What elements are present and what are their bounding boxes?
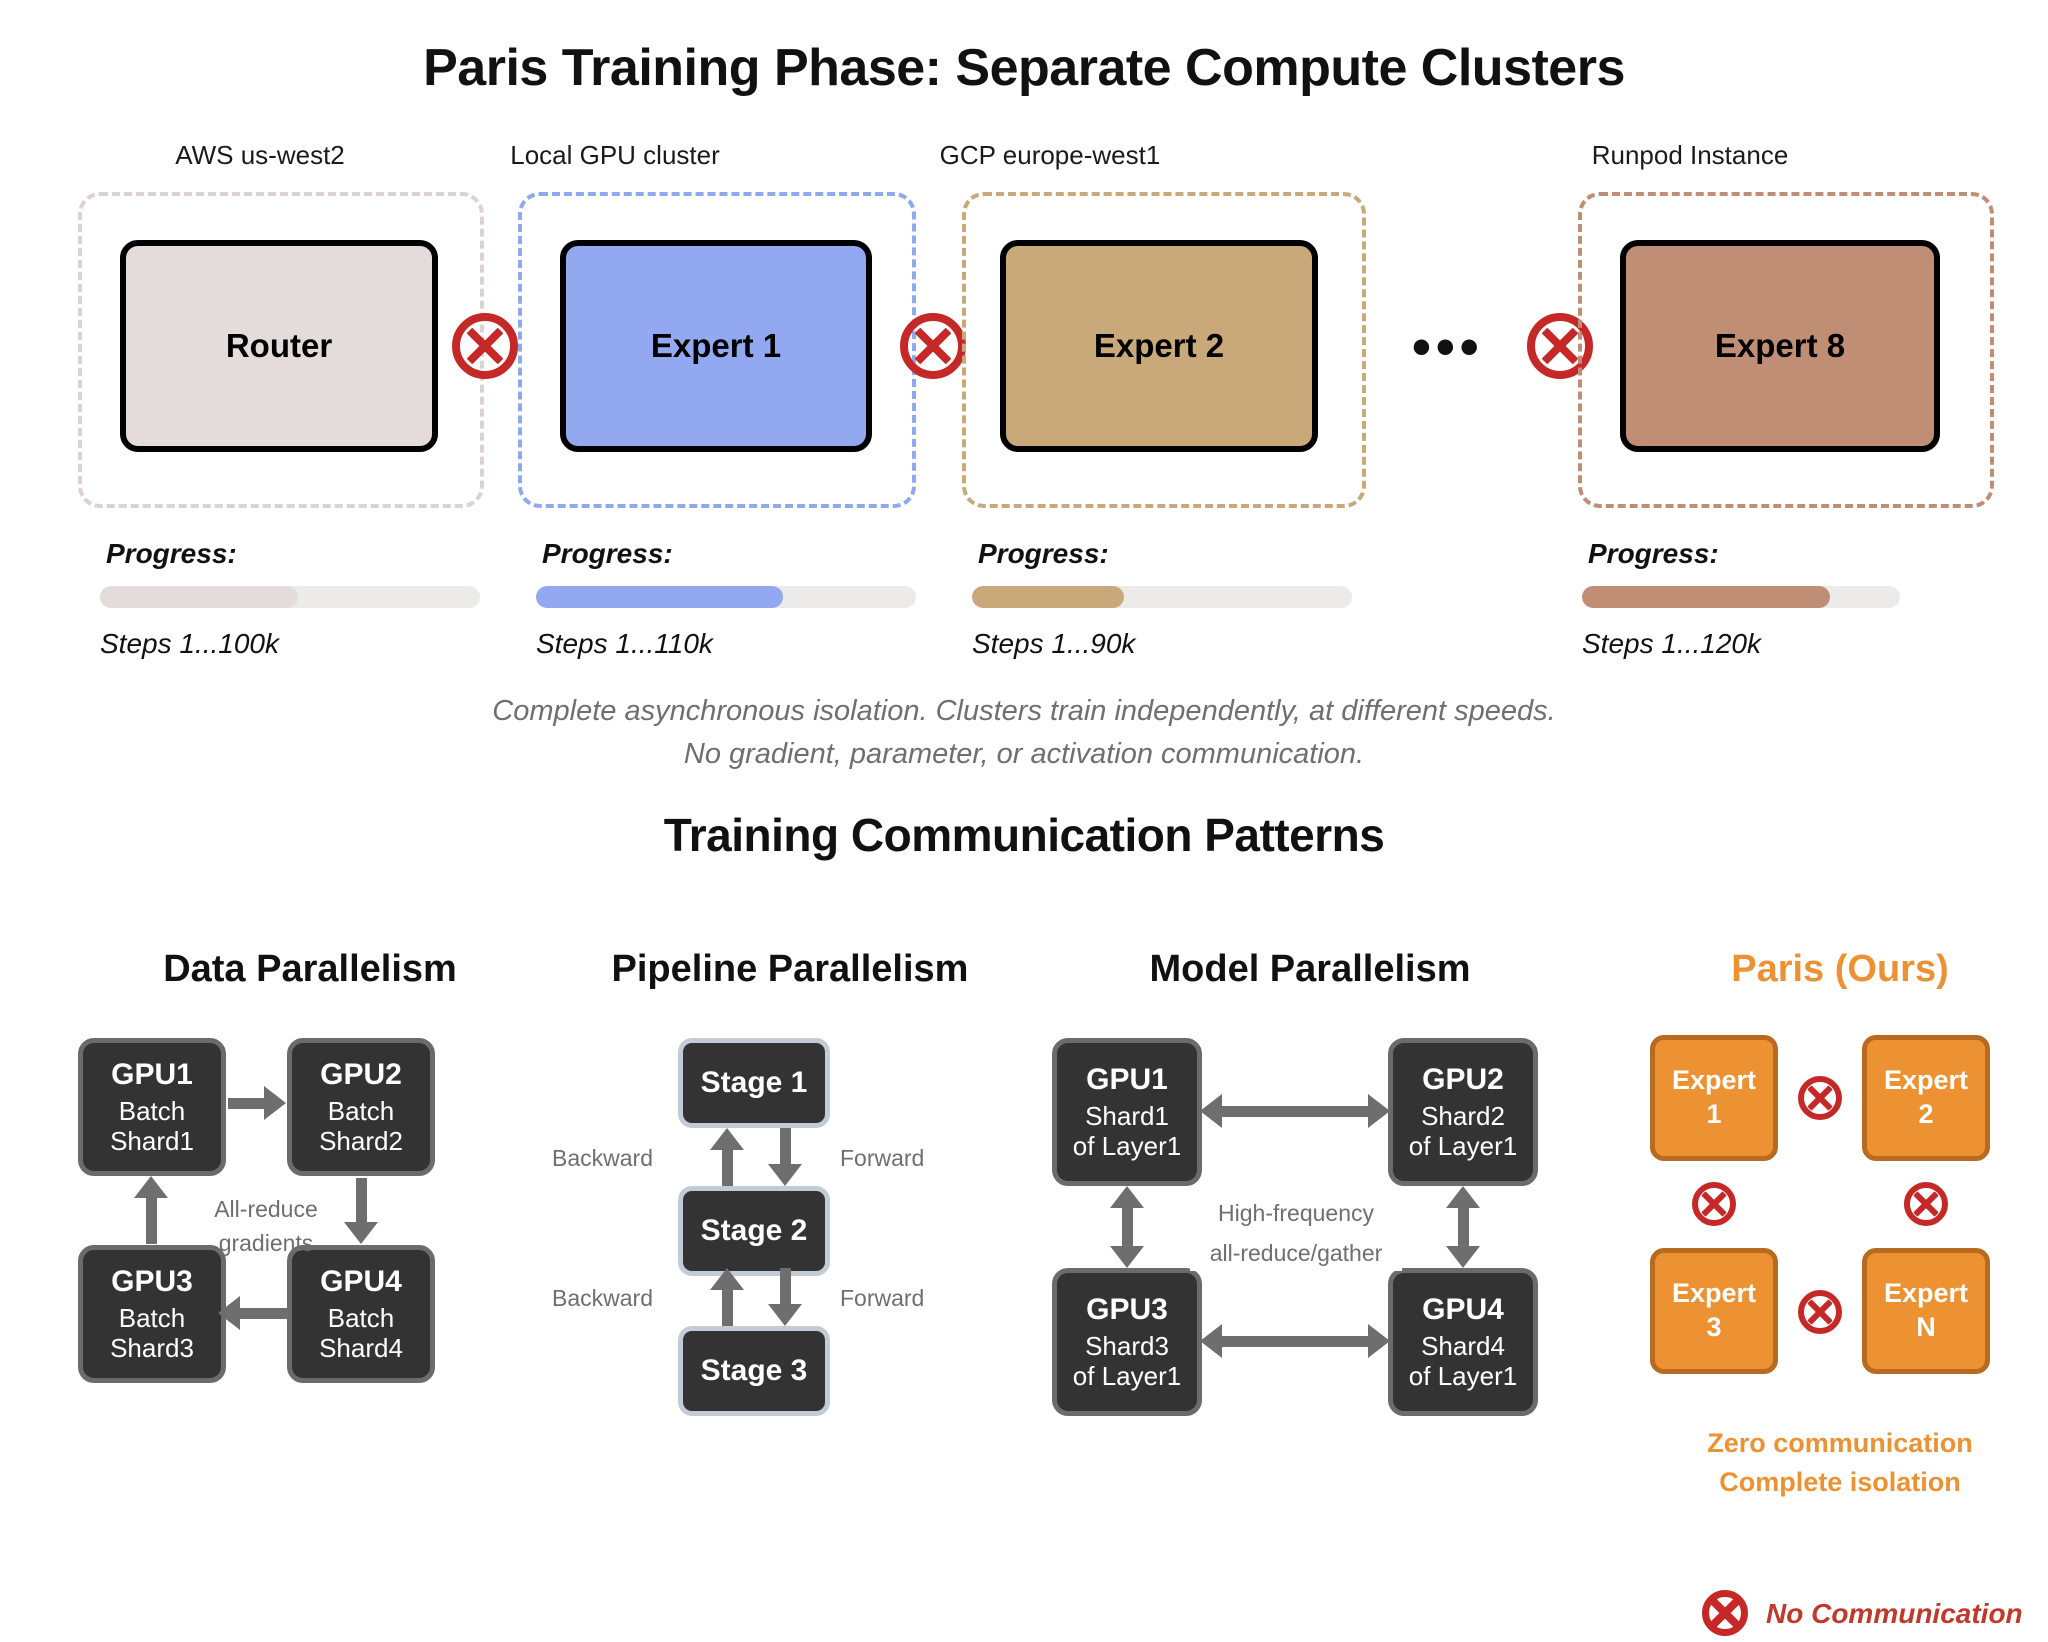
paris-expert-n-word: Expert <box>1884 1277 1968 1311</box>
steps-label-local: Steps 1...110k <box>536 628 713 660</box>
paris-note-line-1: Zero communication <box>1600 1424 2048 1463</box>
panel-title-pipeline-parallelism: Pipeline Parallelism <box>500 948 1080 991</box>
panel-title-data-parallelism: Data Parallelism <box>40 948 580 991</box>
mp-annotation-line-1: High-frequency <box>1190 1196 1402 1231</box>
paris-expert-2-num: 2 <box>1918 1098 1933 1132</box>
pp-stage-3-label: Stage 3 <box>701 1354 808 1388</box>
progress-bar-gcp <box>972 586 1352 608</box>
pp-label-forward-1: Forward <box>840 1145 924 1172</box>
steps-label-gcp: Steps 1...90k <box>972 628 1135 660</box>
paris-expert-n[interactable]: Expert N <box>1862 1248 1990 1374</box>
dp-node-gpu3[interactable]: GPU3 Batch Shard3 <box>78 1245 226 1383</box>
mp-node-gpu2[interactable]: GPU2 Shard2 of Layer1 <box>1388 1038 1538 1186</box>
mp-node-gpu2-title: GPU2 <box>1422 1063 1504 1096</box>
dp-node-gpu1-sub1: Batch <box>119 1097 186 1126</box>
dp-node-gpu2[interactable]: GPU2 Batch Shard2 <box>287 1038 435 1176</box>
page-title: Paris Training Phase: Separate Compute C… <box>0 38 2048 98</box>
dp-node-gpu3-sub1: Batch <box>119 1304 186 1333</box>
paris-expert-3-num: 3 <box>1706 1311 1721 1345</box>
dp-arrow-gpu4-gpu3-head <box>218 1296 240 1330</box>
pp-stage-1[interactable]: Stage 1 <box>678 1038 830 1128</box>
dp-node-gpu4-sub1: Batch <box>328 1304 395 1333</box>
pp-label-backward-1: Backward <box>552 1145 653 1172</box>
dp-node-gpu4-title: GPU4 <box>320 1265 402 1298</box>
mp-arrow-right-line <box>1458 1206 1469 1248</box>
mp-node-gpu3-sub2: of Layer1 <box>1073 1362 1181 1391</box>
cluster-label-runpod: Runpod Instance <box>1420 140 1960 171</box>
dp-node-gpu3-title: GPU3 <box>111 1265 193 1298</box>
dp-node-gpu1-sub2: Shard1 <box>110 1127 194 1156</box>
dp-arrow-gpu4-gpu3-line <box>240 1308 288 1319</box>
paris-no-communication-icon-right <box>1904 1182 1948 1226</box>
mp-arrow-top-line <box>1222 1106 1368 1117</box>
progress-label-gcp: Progress: <box>978 538 1109 570</box>
mp-arrow-top-head-left <box>1200 1094 1222 1128</box>
dp-node-gpu4-sub2: Shard4 <box>319 1334 403 1363</box>
dp-arrow-gpu3-gpu1-head <box>134 1176 168 1198</box>
mp-node-gpu4-sub1: Shard4 <box>1421 1332 1505 1361</box>
paris-expert-3[interactable]: Expert 3 <box>1650 1248 1778 1374</box>
mp-node-gpu3[interactable]: GPU3 Shard3 of Layer1 <box>1052 1268 1202 1416</box>
progress-label-aws: Progress: <box>106 538 237 570</box>
cluster-label-gcp: GCP europe-west1 <box>840 140 1260 171</box>
progress-label-runpod: Progress: <box>1588 538 1719 570</box>
dp-annotation-line-1: All-reduce <box>198 1192 334 1227</box>
mp-node-gpu1-sub2: of Layer1 <box>1073 1132 1181 1161</box>
isolation-caption-line-1: Complete asynchronous isolation. Cluster… <box>0 690 2048 732</box>
progress-bar-aws <box>100 586 480 608</box>
mp-arrow-bottom-line <box>1222 1336 1368 1347</box>
pp-arrow-backward-1-line <box>722 1148 733 1186</box>
paris-expert-1[interactable]: Expert 1 <box>1650 1035 1778 1161</box>
pp-stage-2[interactable]: Stage 2 <box>678 1186 830 1276</box>
paris-expert-n-num: N <box>1916 1311 1936 1345</box>
pp-arrow-forward-2-line <box>780 1268 791 1306</box>
steps-label-aws: Steps 1...100k <box>100 628 279 660</box>
pp-stage-3[interactable]: Stage 3 <box>678 1326 830 1416</box>
panel-title-paris: Paris (Ours) <box>1640 948 2040 991</box>
mp-node-gpu2-sub2: of Layer1 <box>1409 1132 1517 1161</box>
cluster-label-local: Local GPU cluster <box>400 140 830 171</box>
mp-node-gpu4-sub2: of Layer1 <box>1409 1362 1517 1391</box>
dp-arrow-gpu2-gpu4-head <box>344 1222 378 1244</box>
mp-arrow-left-head-up <box>1110 1186 1144 1208</box>
mp-node-gpu2-sub1: Shard2 <box>1421 1102 1505 1131</box>
no-communication-icon-1 <box>452 313 518 379</box>
node-router[interactable]: Router <box>120 240 438 452</box>
node-expert-2-label: Expert 2 <box>1094 327 1224 365</box>
progress-bar-runpod <box>1582 586 1900 608</box>
mp-arrow-left-line <box>1122 1206 1133 1248</box>
pp-stage-1-label: Stage 1 <box>701 1066 808 1100</box>
pp-stage-2-label: Stage 2 <box>701 1214 808 1248</box>
pp-label-forward-2: Forward <box>840 1285 924 1312</box>
mp-node-gpu4[interactable]: GPU4 Shard4 of Layer1 <box>1388 1268 1538 1416</box>
paris-expert-2[interactable]: Expert 2 <box>1862 1035 1990 1161</box>
paris-expert-1-word: Expert <box>1672 1064 1756 1098</box>
dp-arrow-gpu1-gpu2-line <box>228 1098 266 1109</box>
paris-expert-1-num: 1 <box>1706 1098 1721 1132</box>
paris-no-communication-icon-left <box>1692 1182 1736 1226</box>
panel-title-model-parallelism: Model Parallelism <box>1000 948 1620 991</box>
mp-arrow-bottom-head-right <box>1368 1324 1390 1358</box>
pp-label-backward-2: Backward <box>552 1285 653 1312</box>
mp-arrow-top-head-right <box>1368 1094 1390 1128</box>
mp-annotation-line-2: all-reduce/gather <box>1190 1236 1402 1271</box>
dp-arrow-gpu3-gpu1-line <box>146 1196 157 1244</box>
mp-node-gpu3-sub1: Shard3 <box>1085 1332 1169 1361</box>
progress-fill-aws <box>100 586 298 608</box>
progress-bar-local <box>536 586 916 608</box>
pp-arrow-forward-2-head <box>768 1304 802 1326</box>
dp-node-gpu2-sub1: Batch <box>328 1097 395 1126</box>
pp-arrow-forward-1-head <box>768 1164 802 1186</box>
dp-node-gpu3-sub2: Shard3 <box>110 1334 194 1363</box>
node-expert-1[interactable]: Expert 1 <box>560 240 872 452</box>
experts-ellipsis: ••• <box>1412 320 1484 374</box>
node-expert-8-label: Expert 8 <box>1715 327 1845 365</box>
mp-arrow-bottom-head-left <box>1200 1324 1222 1358</box>
node-expert-2[interactable]: Expert 2 <box>1000 240 1318 452</box>
paris-expert-2-word: Expert <box>1884 1064 1968 1098</box>
dp-arrow-gpu2-gpu4-line <box>356 1178 367 1226</box>
dp-node-gpu1[interactable]: GPU1 Batch Shard1 <box>78 1038 226 1176</box>
paris-note-line-2: Complete isolation <box>1600 1463 2048 1502</box>
steps-label-runpod: Steps 1...120k <box>1582 628 1761 660</box>
dp-node-gpu2-title: GPU2 <box>320 1058 402 1091</box>
mp-arrow-right-head-down <box>1446 1246 1480 1268</box>
dp-node-gpu1-title: GPU1 <box>111 1058 193 1091</box>
legend-no-communication-icon <box>1702 1590 1748 1636</box>
no-communication-icon-2 <box>900 313 966 379</box>
progress-fill-local <box>536 586 783 608</box>
node-expert-8[interactable]: Expert 8 <box>1620 240 1940 452</box>
pp-arrow-backward-2-line <box>722 1288 733 1326</box>
section-title: Training Communication Patterns <box>0 808 2048 862</box>
paris-no-communication-icon-top <box>1798 1076 1842 1120</box>
dp-node-gpu2-sub2: Shard2 <box>319 1127 403 1156</box>
paris-expert-3-word: Expert <box>1672 1277 1756 1311</box>
mp-arrow-left-head-down <box>1110 1246 1144 1268</box>
progress-label-local: Progress: <box>542 538 673 570</box>
mp-node-gpu1-sub1: Shard1 <box>1085 1102 1169 1131</box>
dp-node-gpu4[interactable]: GPU4 Batch Shard4 <box>287 1245 435 1383</box>
dp-annotation-line-2: gradients <box>198 1226 334 1261</box>
progress-fill-gcp <box>972 586 1124 608</box>
legend-no-communication-label: No Communication <box>1766 1598 2023 1630</box>
mp-node-gpu1-title: GPU1 <box>1086 1063 1168 1096</box>
mp-arrow-right-head-up <box>1446 1186 1480 1208</box>
node-expert-1-label: Expert 1 <box>651 327 781 365</box>
mp-node-gpu1[interactable]: GPU1 Shard1 of Layer1 <box>1052 1038 1202 1186</box>
dp-arrow-gpu1-gpu2-head <box>264 1086 286 1120</box>
paris-no-communication-icon-bottom <box>1798 1290 1842 1334</box>
pp-arrow-backward-1-head <box>710 1128 744 1150</box>
pp-arrow-forward-1-line <box>780 1128 791 1166</box>
node-router-label: Router <box>226 327 332 365</box>
pp-arrow-backward-2-head <box>710 1268 744 1290</box>
mp-node-gpu4-title: GPU4 <box>1422 1293 1504 1326</box>
progress-fill-runpod <box>1582 586 1830 608</box>
mp-node-gpu3-title: GPU3 <box>1086 1293 1168 1326</box>
isolation-caption-line-2: No gradient, parameter, or activation co… <box>0 733 2048 775</box>
